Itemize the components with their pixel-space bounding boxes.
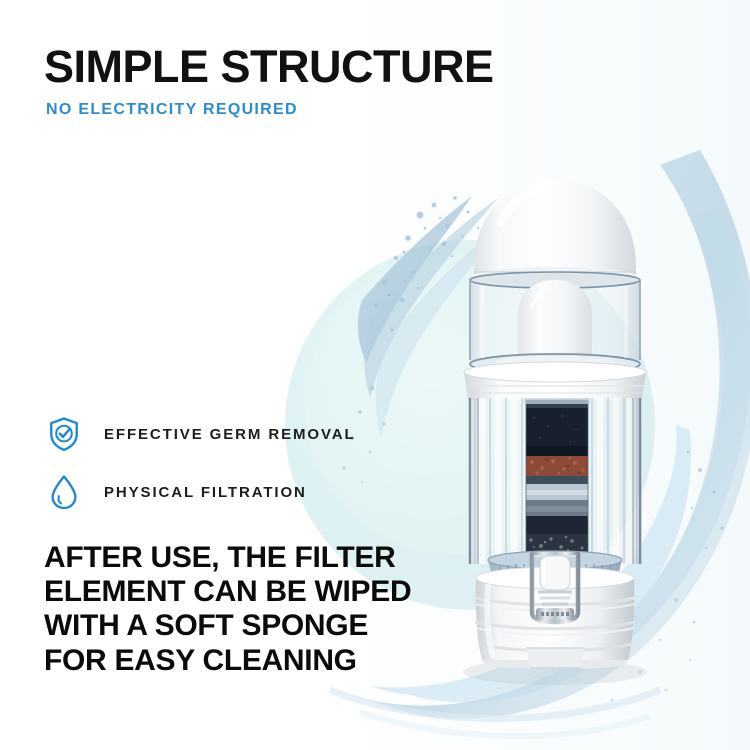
shield-check-icon [42,412,86,456]
page-title: SIMPLE STRUCTURE [44,44,494,89]
description-paragraph: AFTER USE, THE FILTER ELEMENT CAN BE WIP… [44,541,411,678]
feature-item-physical-filtration: PHYSICAL FILTRATION [42,466,356,518]
paragraph-line: AFTER USE, THE FILTER [44,541,411,575]
feature-list: EFFECTIVE GERM REMOVAL PHYSICAL FILTRATI… [42,408,356,524]
filter-cartridge [526,400,588,558]
feature-label: PHYSICAL FILTRATION [104,484,307,501]
paragraph-line: ELEMENT CAN BE WIPED [44,575,411,609]
paragraph-line: FOR EASY CLEANING [44,644,411,678]
paragraph-line: WITH A SOFT SPONGE [44,609,411,643]
product-feature-banner: SIMPLE STRUCTURE NO ELECTRICITY REQUIRED… [0,0,750,750]
feature-item-germ-removal: EFFECTIVE GERM REMOVAL [42,408,356,460]
water-drop-icon [42,470,86,514]
product-image-water-filter [430,160,680,690]
page-subtitle: NO ELECTRICITY REQUIRED [46,101,298,119]
feature-label: EFFECTIVE GERM REMOVAL [104,426,356,443]
